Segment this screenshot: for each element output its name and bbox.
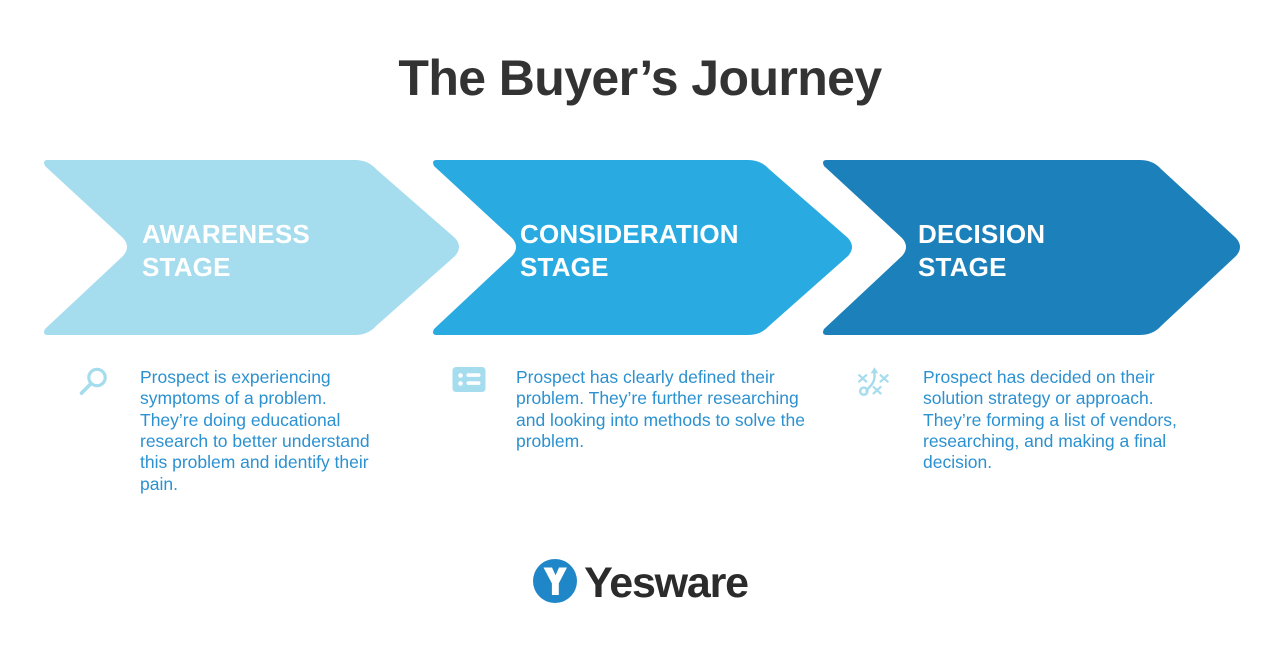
stage-descriptions: Prospect is experiencing symptoms of a p… [0, 363, 1280, 513]
stage-description-awareness: Prospect is experiencing symptoms of a p… [76, 363, 406, 495]
yesware-wordmark: Yesware [584, 562, 748, 605]
stage-label-decision: DECISION STAGE [918, 218, 1045, 285]
stage-label-awareness: AWARENESS STAGE [142, 218, 310, 285]
stage-description-text: Prospect is experiencing symptoms of a p… [140, 363, 385, 495]
stage-description-decision: Prospect has decided on their solution s… [855, 363, 1205, 474]
stage-label-consideration: CONSIDERATION STAGE [520, 218, 739, 285]
page-title: The Buyer’s Journey [0, 48, 1280, 108]
stage-description-text: Prospect has decided on their solution s… [923, 363, 1203, 474]
yesware-logo: Yesware [0, 558, 1280, 609]
magnifier-icon [76, 365, 122, 411]
strategy-play-icon [855, 365, 901, 411]
stage-description-text: Prospect has clearly defined their probl… [516, 363, 808, 452]
yesware-logo-mark [532, 558, 578, 609]
stage-description-consideration: Prospect has clearly defined their probl… [452, 363, 812, 452]
list-card-icon [452, 365, 498, 411]
